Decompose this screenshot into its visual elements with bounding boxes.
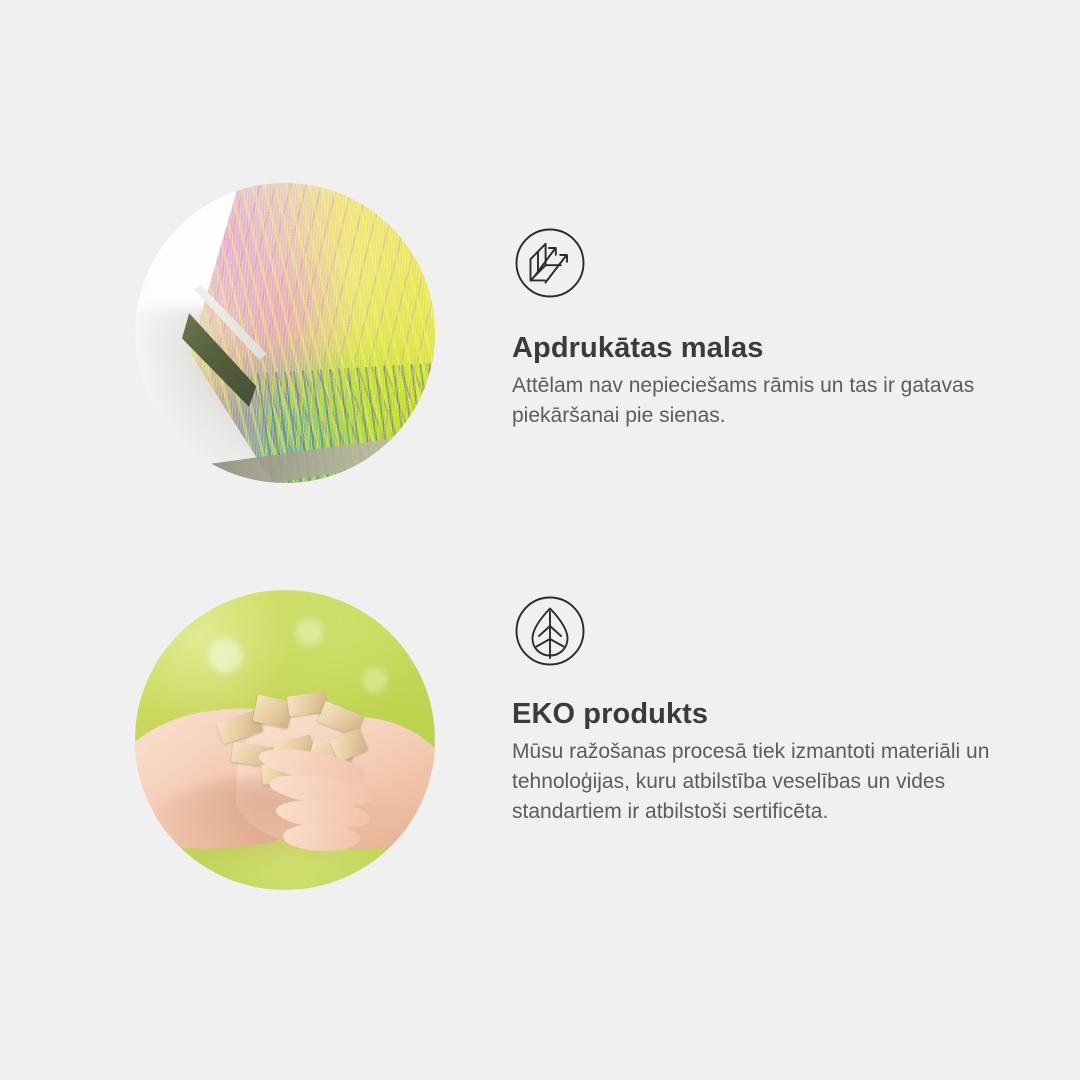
feature-panel: Apdrukātas malas Attēlam nav nepieciešam… — [0, 0, 1080, 1080]
leaf-icon — [512, 593, 1022, 674]
feature-description: Mūsu ražošanas procesā tiek izmantoti ma… — [512, 737, 992, 826]
wood-chips-in-hands-photo — [135, 590, 435, 890]
canvas-print — [171, 183, 435, 483]
feature-block-eko-product: EKO produkts Mūsu ražošanas procesā tiek… — [0, 555, 1080, 935]
feature-description: Attēlam nav nepieciešams rāmis un tas ir… — [512, 371, 992, 431]
printed-edges-icon — [512, 225, 1012, 306]
feature-block-printed-edges: Apdrukātas malas Attēlam nav nepieciešam… — [0, 150, 1080, 530]
feature-title: EKO produkts — [512, 698, 1022, 731]
feature-text-eko-product: EKO produkts Mūsu ražošanas procesā tiek… — [512, 593, 1022, 826]
canvas-weave-texture — [171, 183, 435, 483]
feature-text-printed-edges: Apdrukātas malas Attēlam nav nepieciešam… — [512, 225, 1012, 431]
canvas-corner-photo — [135, 183, 435, 483]
feature-title: Apdrukātas malas — [512, 332, 1012, 365]
fingers — [255, 746, 429, 848]
